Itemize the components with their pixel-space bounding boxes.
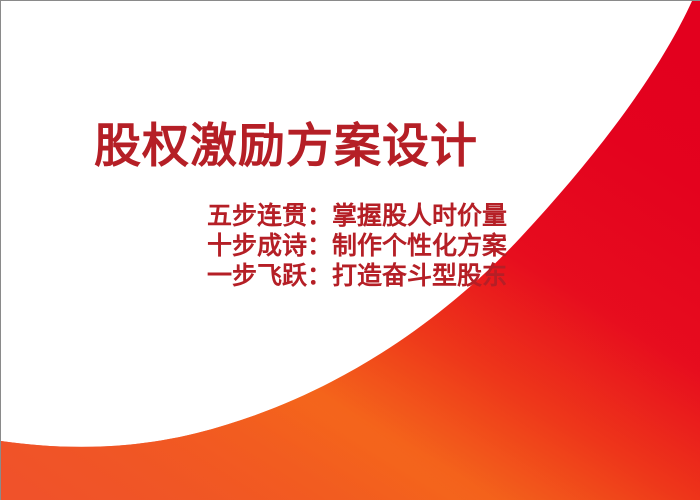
- subtitle-line-3: 一步飞跃：打造奋斗型股东: [207, 261, 507, 291]
- presentation-slide: 股权激励方案设计 五步连贯：掌握股人时价量 十步成诗：制作个性化方案 一步飞跃：…: [0, 0, 700, 500]
- slide-text-layer: 股权激励方案设计 五步连贯：掌握股人时价量 十步成诗：制作个性化方案 一步飞跃：…: [1, 1, 700, 500]
- subtitle-line-1: 五步连贯：掌握股人时价量: [207, 201, 507, 231]
- slide-subtitle: 五步连贯：掌握股人时价量 十步成诗：制作个性化方案 一步飞跃：打造奋斗型股东: [207, 201, 507, 291]
- page-title: 股权激励方案设计: [94, 119, 478, 175]
- subtitle-line-2: 十步成诗：制作个性化方案: [207, 231, 507, 261]
